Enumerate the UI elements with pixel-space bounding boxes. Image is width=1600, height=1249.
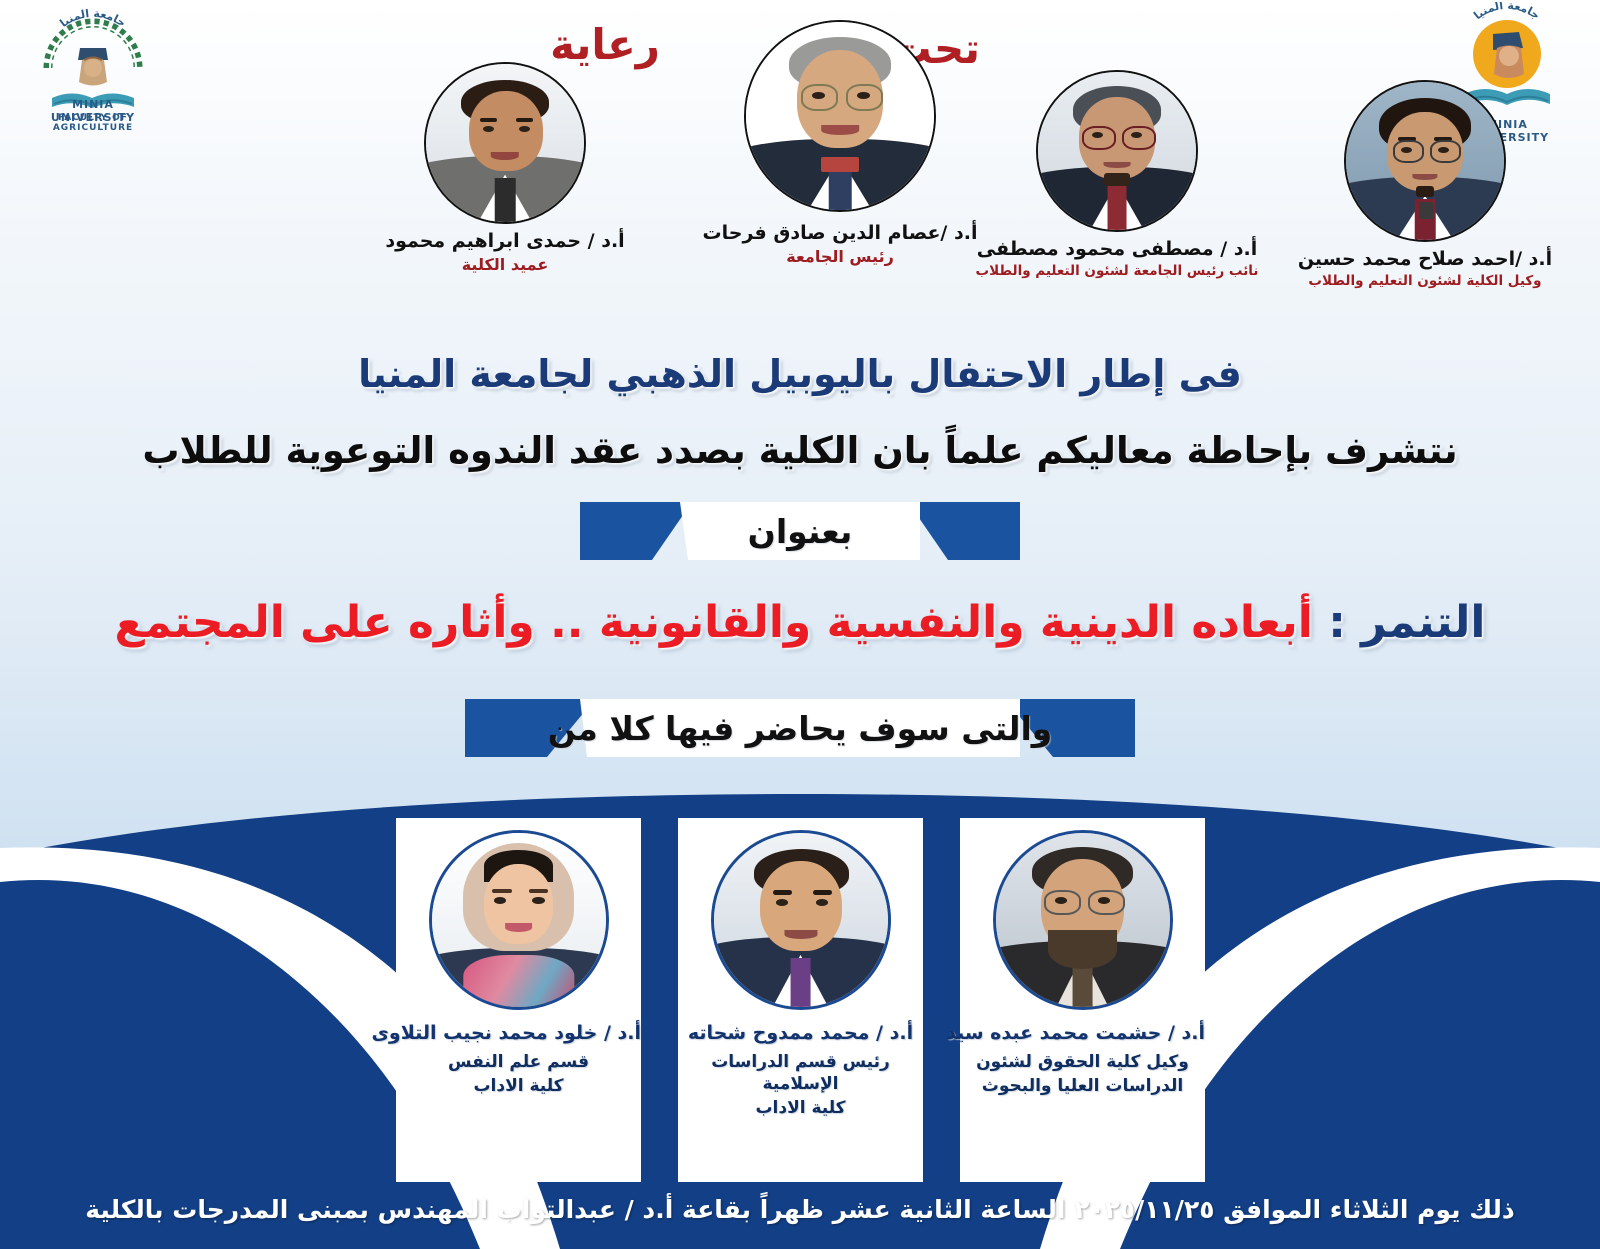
official-name: أ.د /عصام الدين صادق فرحات (675, 222, 1005, 244)
speaker-affiliation-line1: وكيل كلية الحقوق لشئون (960, 1051, 1205, 1073)
banner-titled-label: بعنوان (748, 512, 853, 551)
speaker-name: أ.د / محمد ممدوح شحاته (678, 1022, 923, 1044)
speaker-name: أ.د / حشمت محمد عبده سيد (960, 1022, 1205, 1044)
seminar-title: التنمر : أبعاده الدينية والنفسية والقانو… (0, 597, 1600, 648)
official-name: أ.د / حمدى ابراهيم محمود (340, 230, 670, 252)
official-role: وكيل الكلية لشئون التعليم والطلاب (1260, 273, 1590, 289)
banner-titled: بعنوان (580, 500, 1020, 562)
svg-text:جامعة المنيا: جامعة المنيا (1471, 2, 1542, 22)
avatar-dean (424, 62, 586, 224)
avatar-speaker-law (993, 830, 1173, 1010)
svg-text:جامعة المنيا: جامعة المنيا (57, 7, 128, 30)
official-name: أ.د /احمد صلاح محمد حسين (1260, 248, 1590, 270)
banner-lecturers: والتى سوف يحاضر فيها كلا من (465, 697, 1135, 759)
speaker-card: أ.د / محمد ممدوح شحاته رئيس قسم الدراسات… (678, 818, 923, 1182)
seminar-topic: التنمر : (1328, 597, 1485, 648)
official-card-university-president: أ.د /عصام الدين صادق فرحات رئيس الجامعة (675, 20, 1005, 266)
speaker-affiliation-line2: كلية الاداب (678, 1097, 923, 1119)
official-role: عميد الكلية (340, 255, 670, 274)
speaker-affiliation-line2: كلية الاداب (396, 1075, 641, 1097)
speaker-affiliation-line1: رئيس قسم الدراسات الإسلامية (678, 1051, 923, 1095)
poster-canvas: جامعة المنيا MINIA UNIVERSITY FACULTY OF… (0, 0, 1600, 1249)
speaker-affiliation-line1: قسم علم النفس (396, 1051, 641, 1073)
minia-university-faculty-of-agriculture-logo: جامعة المنيا MINIA UNIVERSITY FACULTY OF… (28, 6, 158, 136)
avatar-speaker-islamic-studies (711, 830, 891, 1010)
official-role: رئيس الجامعة (675, 247, 1005, 266)
speaker-card: أ.د / خلود محمد نجيب التلاوى قسم علم الن… (396, 818, 641, 1182)
speaker-name: أ.د / خلود محمد نجيب التلاوى (396, 1022, 641, 1044)
official-card-dean: أ.د / حمدى ابراهيم محمود عميد الكلية (340, 62, 670, 274)
patronage-word-of: رعاية (550, 24, 660, 66)
avatar-vice-dean (1344, 80, 1506, 242)
official-card-vice-dean: أ.د /احمد صلاح محمد حسين وكيل الكلية لشئ… (1260, 80, 1590, 289)
speaker-affiliation-line2: الدراسات العليا والبحوث (960, 1075, 1205, 1097)
logo-left-line2: FACULTY OF AGRICULTURE (28, 113, 158, 133)
seminar-title-rest: أبعاده الدينية والنفسية والقانونية .. وأ… (114, 597, 1312, 648)
intro-headline: نتشرف بإحاطة معاليكم علماً بان الكلية بص… (0, 428, 1600, 473)
jubilee-headline: فى إطار الاحتفال باليوبيل الذهبي لجامعة … (0, 352, 1600, 396)
avatar-vice-president (1036, 70, 1198, 232)
avatar-speaker-psychology (429, 830, 609, 1010)
avatar-university-president (744, 20, 936, 212)
speaker-card: أ.د / حشمت محمد عبده سيد وكيل كلية الحقو… (960, 818, 1205, 1182)
event-datetime-venue: ذلك يوم الثلاثاء الموافق ٢٠٢٥/١١/٢٥ السا… (0, 1193, 1600, 1227)
banner-lecturers-label: والتى سوف يحاضر فيها كلا من (548, 709, 1053, 748)
